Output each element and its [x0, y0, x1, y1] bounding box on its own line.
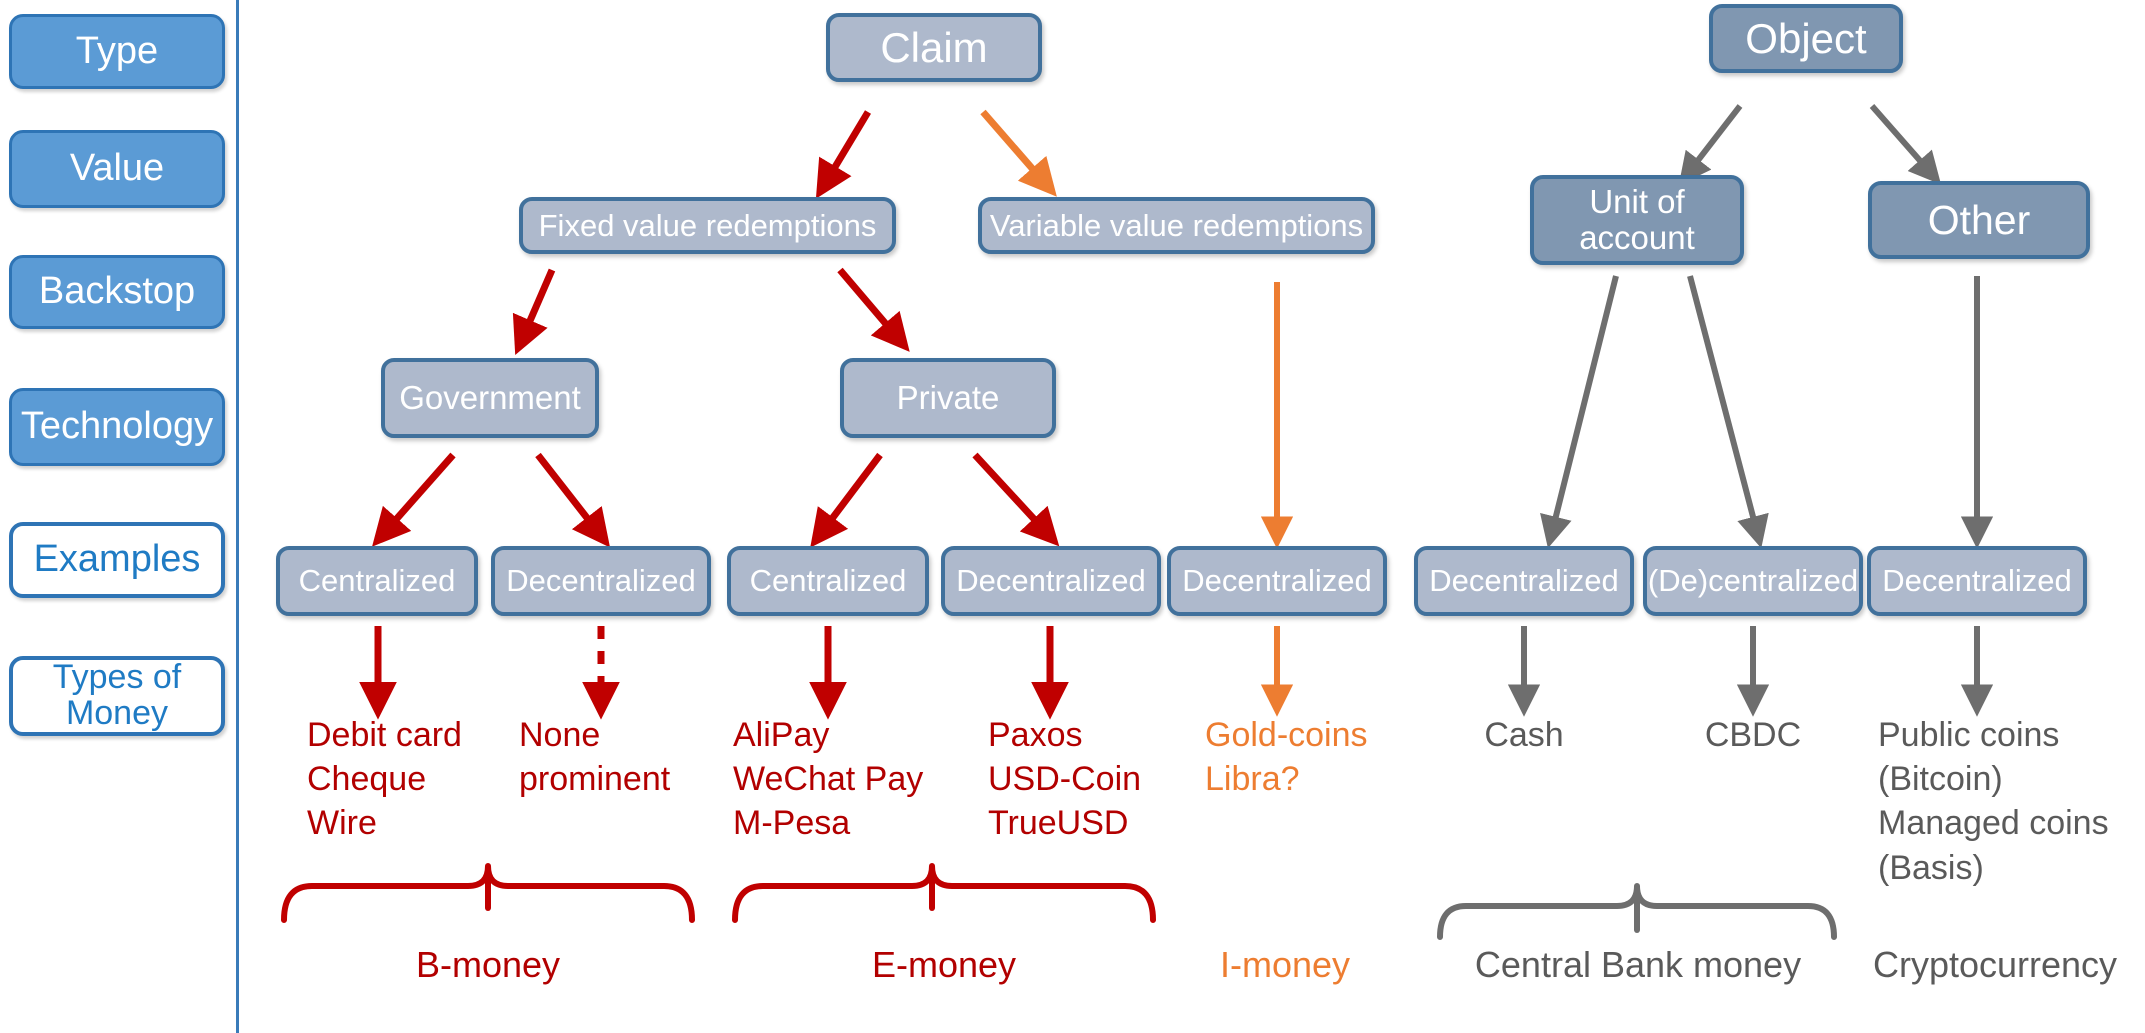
- connector-object-to-other: [1872, 106, 1930, 172]
- example-government-centralized: Debit card Cheque Wire: [307, 713, 547, 846]
- rail-item-examples[interactable]: Examples: [9, 522, 225, 598]
- node-claim[interactable]: Claim: [826, 13, 1042, 82]
- example-cbdc: CBDC: [1653, 713, 1853, 757]
- money-type-cryptocurrency: Cryptocurrency: [1850, 942, 2140, 989]
- money-type-b-money: B-money: [368, 942, 608, 989]
- connector-government-to-tech1: [385, 455, 453, 532]
- connector-fixed-to-private: [840, 270, 897, 337]
- node-government[interactable]: Government: [381, 358, 599, 438]
- connector-object-to-unit: [1689, 106, 1740, 172]
- money-type-e-money: E-money: [824, 942, 1064, 989]
- connector-government-to-tech2: [538, 455, 598, 532]
- node-tech-decentralized-other[interactable]: Decentralized: [1867, 546, 2087, 616]
- rail-item-technology[interactable]: Technology: [9, 388, 225, 466]
- node-tech-decentralized-unit[interactable]: Decentralized: [1414, 546, 1634, 616]
- rail-item-types-of-money[interactable]: Types of Money: [9, 656, 225, 736]
- example-government-decentralized: None prominent: [519, 713, 749, 801]
- connector-layer: [0, 0, 2145, 1033]
- connector-private-to-tech3: [822, 455, 880, 532]
- node-private[interactable]: Private: [840, 358, 1056, 438]
- brace-e-money: [735, 866, 1153, 920]
- example-private-decentralized: Paxos USD-Coin TrueUSD: [988, 713, 1218, 846]
- example-private-centralized: AliPay WeChat Pay M-Pesa: [733, 713, 983, 846]
- example-cash: Cash: [1424, 713, 1624, 757]
- connector-claim-to-variable: [983, 112, 1044, 182]
- node-unit-of-account[interactable]: Unit of account: [1530, 175, 1744, 265]
- example-variable-decentralized: Gold-coins Libra?: [1205, 713, 1435, 801]
- node-tech-decentralized-government[interactable]: Decentralized: [491, 546, 711, 616]
- node-tech-centralized-private[interactable]: Centralized: [727, 546, 929, 616]
- diagram-canvas: Type Value Backstop Technology Examples …: [0, 0, 2145, 1033]
- node-tech-centralized-government[interactable]: Centralized: [276, 546, 478, 616]
- rail-item-value[interactable]: Value: [9, 130, 225, 208]
- brace-central-bank-money: [1440, 886, 1834, 937]
- example-crypto-coins: Public coins (Bitcoin) Managed coins (Ba…: [1878, 713, 2145, 890]
- money-type-central-bank-money: Central Bank money: [1463, 942, 1813, 989]
- connector-unit-to-tech6: [1552, 276, 1616, 532]
- rail-divider: [236, 0, 239, 1033]
- rail-item-type[interactable]: Type: [9, 14, 225, 89]
- node-object[interactable]: Object: [1709, 4, 1903, 73]
- node-tech-de-centralized-unit[interactable]: (De)centralized: [1643, 546, 1863, 616]
- connector-claim-to-fixed: [826, 112, 868, 182]
- node-tech-decentralized-variable[interactable]: Decentralized: [1167, 546, 1387, 616]
- connector-unit-to-tech7: [1690, 276, 1757, 532]
- money-type-i-money: I-money: [1165, 942, 1405, 989]
- connector-private-to-tech4: [975, 455, 1046, 532]
- node-variable-value-redemptions[interactable]: Variable value redemptions: [978, 197, 1375, 254]
- node-fixed-value-redemptions[interactable]: Fixed value redemptions: [519, 197, 896, 254]
- node-tech-decentralized-private[interactable]: Decentralized: [941, 546, 1161, 616]
- rail-item-backstop[interactable]: Backstop: [9, 255, 225, 329]
- connector-fixed-to-government: [523, 270, 552, 337]
- node-other[interactable]: Other: [1868, 181, 2090, 259]
- brace-b-money: [284, 866, 692, 920]
